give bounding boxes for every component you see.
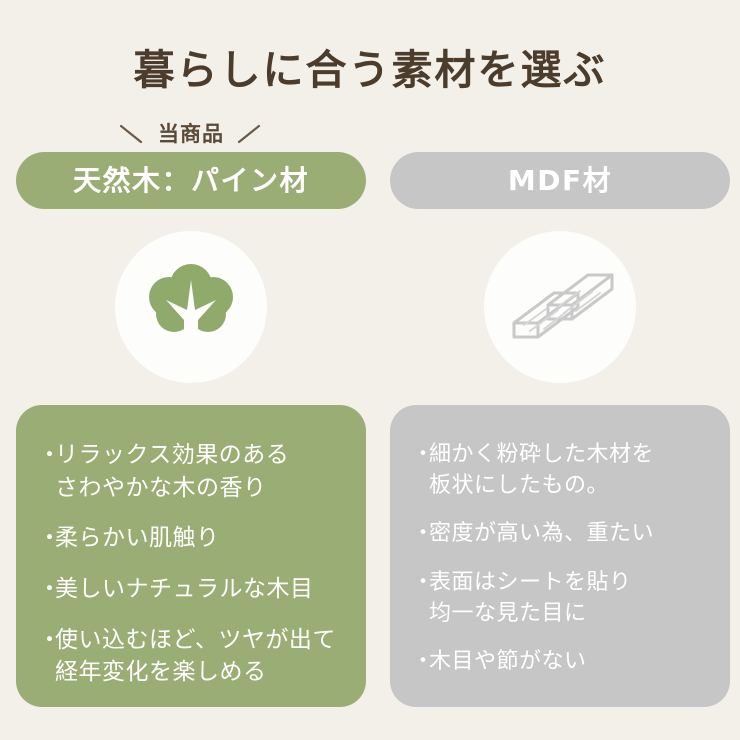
list-item: ・ リラックス効果のある さわやかな木の香り (38, 439, 344, 504)
this-product-badge: 当商品 (16, 117, 366, 151)
tree-icon (136, 252, 246, 362)
column-mdf: MDF材 (390, 152, 730, 707)
diagonal-slash-left-icon (119, 124, 145, 144)
page-title: 暮らしに合う素材を選ぶ (0, 46, 740, 95)
list-item-text: リラックス効果のある さわやかな木の香り (55, 439, 344, 504)
bullet-marker: ・ (38, 439, 55, 472)
comparison-infographic: 暮らしに合う素材を選ぶ 当商品 天然木：パイン材 (0, 0, 740, 740)
list-item-text: 密度が高い為、重たい (429, 518, 708, 549)
list-item: ・ 使い込むほど、ツヤが出て 経年変化を楽しめる (38, 624, 344, 689)
bullet-marker: ・ (38, 522, 55, 555)
list-item: ・ 柔らかい肌触り (38, 522, 344, 555)
list-item: ・ 密度が高い為、重たい (412, 518, 708, 549)
icon-circle-mdf (484, 231, 636, 383)
bullet-marker: ・ (412, 646, 429, 677)
icon-zone-natural-wood (16, 209, 366, 405)
list-item-text: 表面はシートを貼り 均一な見た目に (429, 567, 708, 629)
list-item-text: 美しいナチュラルな木目 (55, 573, 344, 606)
wood-planks-icon (504, 261, 616, 353)
bullet-marker: ・ (38, 624, 55, 657)
list-item: ・ 表面はシートを貼り 均一な見た目に (412, 567, 708, 629)
list-item: ・ 美しいナチュラルな木目 (38, 573, 344, 606)
list-item: ・ 木目や節がない (412, 646, 708, 677)
bullet-marker: ・ (38, 573, 55, 606)
list-item-text: 使い込むほど、ツヤが出て 経年変化を楽しめる (55, 624, 344, 689)
panel-mdf: ・ 細かく粉砕した木材を 板状にしたもの。 ・ 密度が高い為、重たい ・ 表面は… (390, 405, 730, 707)
bullet-list-mdf: ・ 細かく粉砕した木材を 板状にしたもの。 ・ 密度が高い為、重たい ・ 表面は… (412, 439, 708, 677)
bullet-marker: ・ (412, 567, 429, 598)
diagonal-slash-right-icon (237, 124, 263, 144)
bullet-marker: ・ (412, 518, 429, 549)
list-item-text: 細かく粉砕した木材を 板状にしたもの。 (429, 439, 708, 501)
bullet-list-natural-wood: ・ リラックス効果のある さわやかな木の香り ・ 柔らかい肌触り ・ 美しいナチ… (38, 439, 344, 689)
column-heading-natural-wood: 天然木：パイン材 (16, 152, 366, 209)
list-item-text: 木目や節がない (429, 646, 708, 677)
icon-zone-mdf (390, 209, 730, 405)
column-natural-wood: 天然木：パイン材 (16, 152, 366, 707)
list-item: ・ 細かく粉砕した木材を 板状にしたもの。 (412, 439, 708, 501)
list-item-text: 柔らかい肌触り (55, 522, 344, 555)
panel-natural-wood: ・ リラックス効果のある さわやかな木の香り ・ 柔らかい肌触り ・ 美しいナチ… (16, 405, 366, 707)
icon-circle-natural-wood (115, 231, 267, 383)
column-heading-mdf: MDF材 (390, 152, 730, 209)
badge-label: 当商品 (158, 124, 224, 145)
bullet-marker: ・ (412, 439, 429, 470)
